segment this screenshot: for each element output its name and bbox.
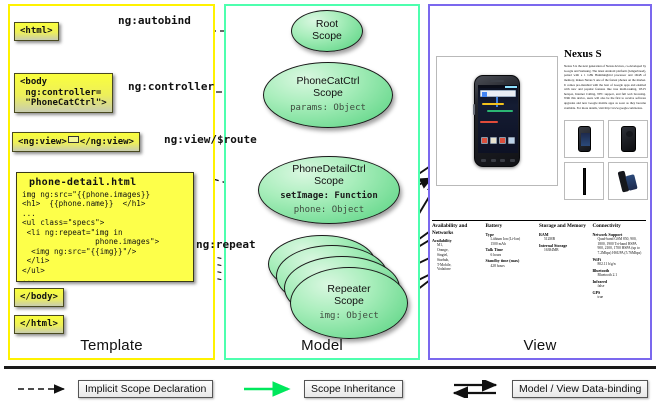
ng-view-close-tag: </ng:view> [80,137,134,147]
phone-hardware-buttons [479,157,517,163]
scope-repeater-stack: RepeaterScope img: Object [268,235,400,343]
scope-repeater-title: RepeaterScope [327,284,370,308]
spec-value: false [593,284,644,289]
partial-filename: phone-detail.html [21,175,189,190]
code-box-html-open: <html> [14,22,59,41]
scope-root: RootScope [291,10,363,52]
legend: Implicit Scope Declaration Scope Inherit… [0,378,660,408]
phone-tilted-icon [620,169,637,193]
product-description: Nexus S is the next generation of Nexus … [564,64,646,110]
rendered-view: Nexus S Nexus S is the next generation o… [432,8,648,328]
specs-column-storage: Storage and Memory RAM 512MB Internal St… [539,223,593,301]
diagram-root: Template <html> <body ng:controller= "Ph… [0,0,660,420]
specs-column-header: Availability and Networks [432,223,483,236]
phone-hero-image-frame [436,56,558,186]
app-icon-2 [490,137,497,144]
panel-view-label: View [430,332,650,358]
wallpaper-line-red [480,121,498,123]
phone-statusbar [478,85,518,88]
scope-phonedetailctrl-prop-setimage: setImage: Function [280,191,378,202]
thumbnail-front-angled[interactable] [564,120,604,158]
label-ng-autobind: ng:autobind [118,14,191,27]
spec-value: Bluetooth 2.1 [593,273,644,278]
specs-column-connectivity: Connectivity Network Support Quad-band G… [593,223,647,301]
label-ng-controller: ng:controller [128,80,214,93]
specs-column-header: Storage and Memory [539,223,590,230]
thumbnail-gallery [564,120,648,204]
label-ng-repeat: ng:repeat [196,238,256,251]
nexus-s-phone-icon [474,75,520,167]
spec-value: 802.11 b/g/n [593,262,644,267]
scope-phonedetailctrl-prop-phone: phone: Object [294,205,364,216]
code-box-html-close: </html> [14,315,64,334]
phone-button-back-icon [481,159,486,162]
wallpaper-line-yellow [482,103,504,105]
green-arrow-icon [240,380,298,398]
wallpaper-line-blue [496,97,498,107]
specs-column-header: Connectivity [593,223,644,230]
phone-volume-button-icon [473,104,475,115]
scope-root-title: RootScope [312,19,342,43]
phone-wallpaper [478,97,518,131]
thumbnail-side-edge[interactable] [564,162,604,200]
app-icon-4 [508,137,515,144]
ng-view-slot-icon [68,136,79,143]
legend-item-implicit-declaration: Implicit Scope Declaration [14,380,213,398]
phone-back-icon [621,126,636,152]
phone-search-widget-icon [480,90,516,97]
phone-speaker-icon [490,80,504,82]
spec-value: M1,Orange,Singtel,Starhub,T-Mobile,Vodaf… [432,243,483,272]
thumbnail-tilted-front[interactable] [608,162,648,200]
phone-front-icon [578,126,591,152]
thumbnail-row [564,162,648,200]
phone-button-search-icon [500,159,505,162]
dashed-arrow-icon [14,380,72,398]
specs-column-availability: Availability and Networks Availability M… [432,223,486,301]
specs-table: Availability and Networks Availability M… [432,220,646,301]
phone-edge-icon [583,168,586,195]
app-icon-1 [481,137,488,144]
scope-phonedetailctrl-title: PhoneDetailCtrlScope [292,164,366,188]
legend-divider [4,366,656,369]
ng-view-open-tag: <ng:view> [18,137,67,147]
thumbnail-back[interactable] [608,120,648,158]
scope-phonecatctrl-title: PhoneCatCtrlScope [296,76,359,100]
wallpaper-line-green [487,110,513,112]
scope-phonedetailctrl: PhoneDetailCtrlScope setImage: Function … [258,156,400,224]
scope-phonecatctrl-prop-params: params: Object [290,103,366,114]
spec-value: 6 hours [486,253,537,258]
spec-value: 512MB [539,237,590,242]
spec-value: 16384MB [539,248,590,253]
scope-repeater: RepeaterScope img: Object [290,267,408,339]
phone-button-menu-icon [491,159,496,162]
legend-item-scope-inheritance: Scope Inheritance [240,380,403,398]
specs-column-header: Battery [486,223,537,230]
phone-app-dock [478,137,518,144]
spec-value: Lithium Ion (Li-Ion)1500 mAh [486,237,537,247]
thumbnail-row [564,120,648,158]
legend-label: Implicit Scope Declaration [78,380,213,398]
phone-screen [478,85,518,153]
legend-label: Scope Inheritance [304,380,403,398]
legend-label: Model / View Data-binding [512,380,648,398]
panel-template-label: Template [10,332,213,358]
code-box-body-close: </body> [14,288,64,307]
spec-value: Quad-band GSM 850, 900, 1800, 1900 Tri-b… [593,237,644,256]
label-ng-view-route: ng:view/$route [164,133,257,146]
spec-value: true [593,295,644,300]
double-arrow-icon [448,380,506,398]
phone-button-home-icon [510,159,515,162]
scope-phonecatctrl: PhoneCatCtrlScope params: Object [263,62,393,128]
partial-template-callout: phone-detail.html img ng:src="{{phone.im… [16,172,194,282]
legend-item-data-binding: Model / View Data-binding [448,380,648,398]
specs-column-battery: Battery Type Lithium Ion (Li-Ion)1500 mA… [486,223,540,301]
scope-repeater-prop-img: img: Object [319,311,379,322]
code-box-ng-view: <ng:view></ng:view> [12,132,140,152]
partial-code: img ng:src="{{phone.images}} <h1> {{phon… [21,190,189,282]
product-title: Nexus S [564,48,602,60]
app-icon-3 [499,137,506,144]
code-box-body-open: <body ng:controller= "PhoneCatCtrl"> [14,73,113,113]
spec-value: 428 hours [486,264,537,269]
